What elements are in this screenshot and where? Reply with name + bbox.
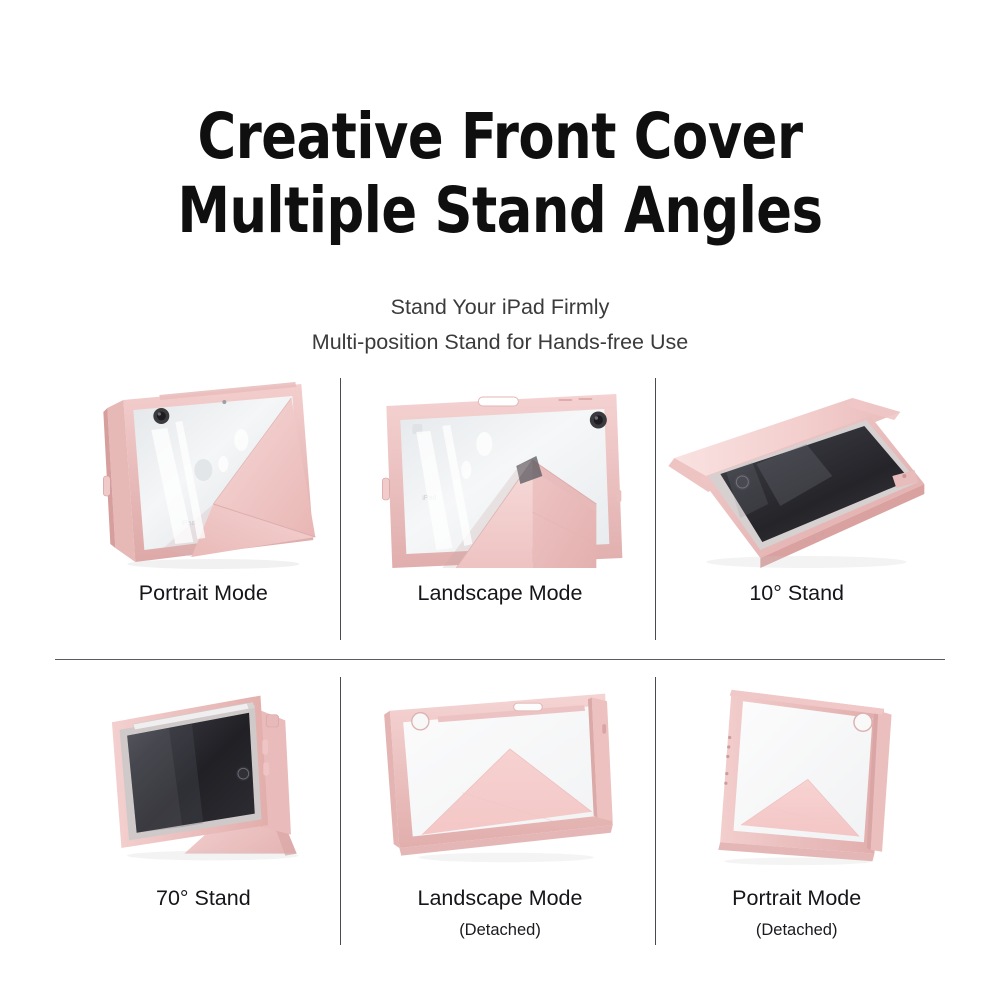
grid-row-1: iPad	[55, 372, 945, 660]
grid-cell-70-degree-stand: 70° Stand	[55, 667, 352, 957]
page-title: Creative Front Cover Multiple Stand Angl…	[35, 100, 965, 248]
product-photo-landscape-stand: iPad	[352, 372, 649, 572]
cell-caption: 70° Stand	[55, 885, 352, 912]
product-photo-portrait-stand: iPad	[55, 372, 352, 572]
headline-line-1: Creative Front Cover	[35, 100, 965, 174]
product-photo-shell-portrait-detached	[648, 667, 945, 867]
grid-cell-landscape-detached: Landscape Mode (Detached)	[352, 667, 649, 957]
caption-text: Portrait Mode	[139, 581, 268, 605]
cell-caption: 10° Stand	[648, 580, 945, 607]
grid-row-2: 70° Stand	[55, 667, 945, 957]
caption-subtext: (Detached)	[648, 917, 945, 944]
header: Creative Front Cover Multiple Stand Angl…	[0, 0, 1000, 360]
product-photo-shell-landscape-detached	[352, 667, 649, 867]
caption-text: Portrait Mode	[732, 886, 861, 910]
product-photo-low-angle-stand	[648, 372, 945, 572]
cell-caption: Portrait Mode (Detached)	[648, 885, 945, 944]
subtitle-line-2: Multi-position Stand for Hands-free Use	[0, 325, 1000, 360]
grid-cell-portrait-detached: Portrait Mode (Detached)	[648, 667, 945, 957]
caption-text: Landscape Mode	[418, 886, 583, 910]
cell-caption: Portrait Mode	[55, 580, 352, 607]
grid-cell-landscape-mode: iPad	[352, 372, 649, 660]
caption-subtext: (Detached)	[352, 917, 649, 944]
subtitle-line-1: Stand Your iPad Firmly	[0, 290, 1000, 325]
caption-text: 70° Stand	[156, 886, 251, 910]
grid-cell-10-degree-stand: 10° Stand	[648, 372, 945, 660]
subtitle: Stand Your iPad Firmly Multi-position St…	[0, 290, 1000, 360]
caption-text: Landscape Mode	[418, 581, 583, 605]
headline-line-2: Multiple Stand Angles	[35, 174, 965, 248]
feature-grid: iPad	[55, 372, 945, 957]
caption-text: 10° Stand	[749, 581, 844, 605]
cell-caption: Landscape Mode (Detached)	[352, 885, 649, 944]
grid-cell-portrait-mode: iPad	[55, 372, 352, 660]
product-photo-upright-stand	[55, 667, 352, 867]
cell-caption: Landscape Mode	[352, 580, 649, 607]
